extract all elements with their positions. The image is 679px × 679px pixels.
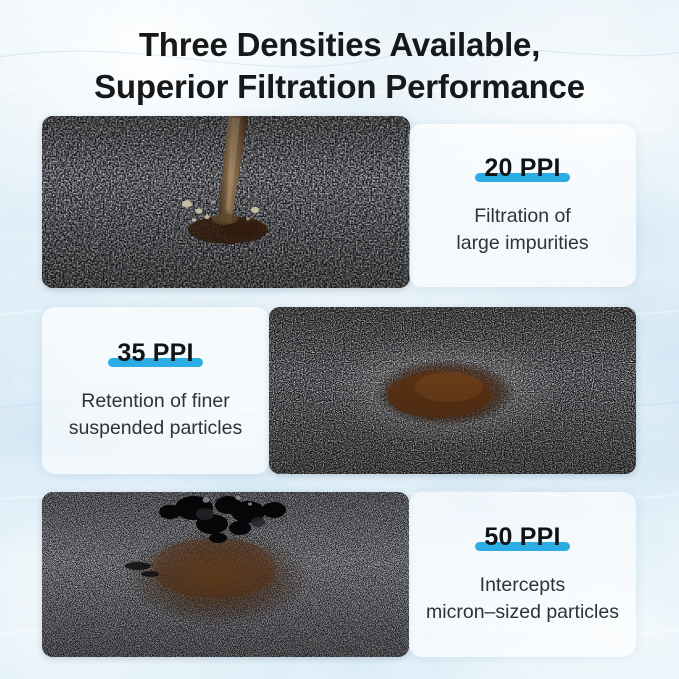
- feature-description-35ppi: Retention of finer suspended particles: [69, 388, 242, 442]
- feature-photo-50ppi: [42, 492, 409, 657]
- desc-line-1: Intercepts: [426, 572, 619, 599]
- infographic-canvas: Three Densities Available, Superior Filt…: [0, 0, 679, 679]
- feature-card-20ppi: 20 PPI Filtration of large impurities: [409, 124, 636, 287]
- feature-card-50ppi: 50 PPI Intercepts micron–sized particles: [409, 492, 636, 657]
- desc-line-2: suspended particles: [69, 415, 242, 442]
- desc-line-2: micron–sized particles: [426, 599, 619, 626]
- coarse-foam-image: [42, 116, 410, 288]
- title-line-1: Three Densities Available,: [0, 24, 679, 66]
- ppi-label: 35 PPI: [117, 339, 193, 367]
- ppi-badge-20: 20 PPI: [484, 154, 560, 183]
- ppi-label: 20 PPI: [484, 154, 560, 182]
- ppi-badge-50: 50 PPI: [484, 523, 560, 552]
- desc-line-1: Filtration of: [456, 203, 588, 230]
- fine-foam-image: [42, 492, 409, 657]
- ppi-badge-35: 35 PPI: [117, 339, 193, 368]
- feature-description-50ppi: Intercepts micron–sized particles: [426, 572, 619, 626]
- feature-description-20ppi: Filtration of large impurities: [456, 203, 588, 257]
- feature-photo-35ppi: [269, 307, 636, 474]
- desc-line-1: Retention of finer: [69, 388, 242, 415]
- title-line-2: Superior Filtration Performance: [0, 66, 679, 108]
- feature-card-35ppi: 35 PPI Retention of finer suspended part…: [42, 307, 269, 474]
- medium-foam-image: [269, 307, 636, 474]
- desc-line-2: large impurities: [456, 230, 588, 257]
- page-title: Three Densities Available, Superior Filt…: [0, 24, 679, 108]
- ppi-label: 50 PPI: [484, 523, 560, 551]
- feature-photo-20ppi: [42, 116, 410, 288]
